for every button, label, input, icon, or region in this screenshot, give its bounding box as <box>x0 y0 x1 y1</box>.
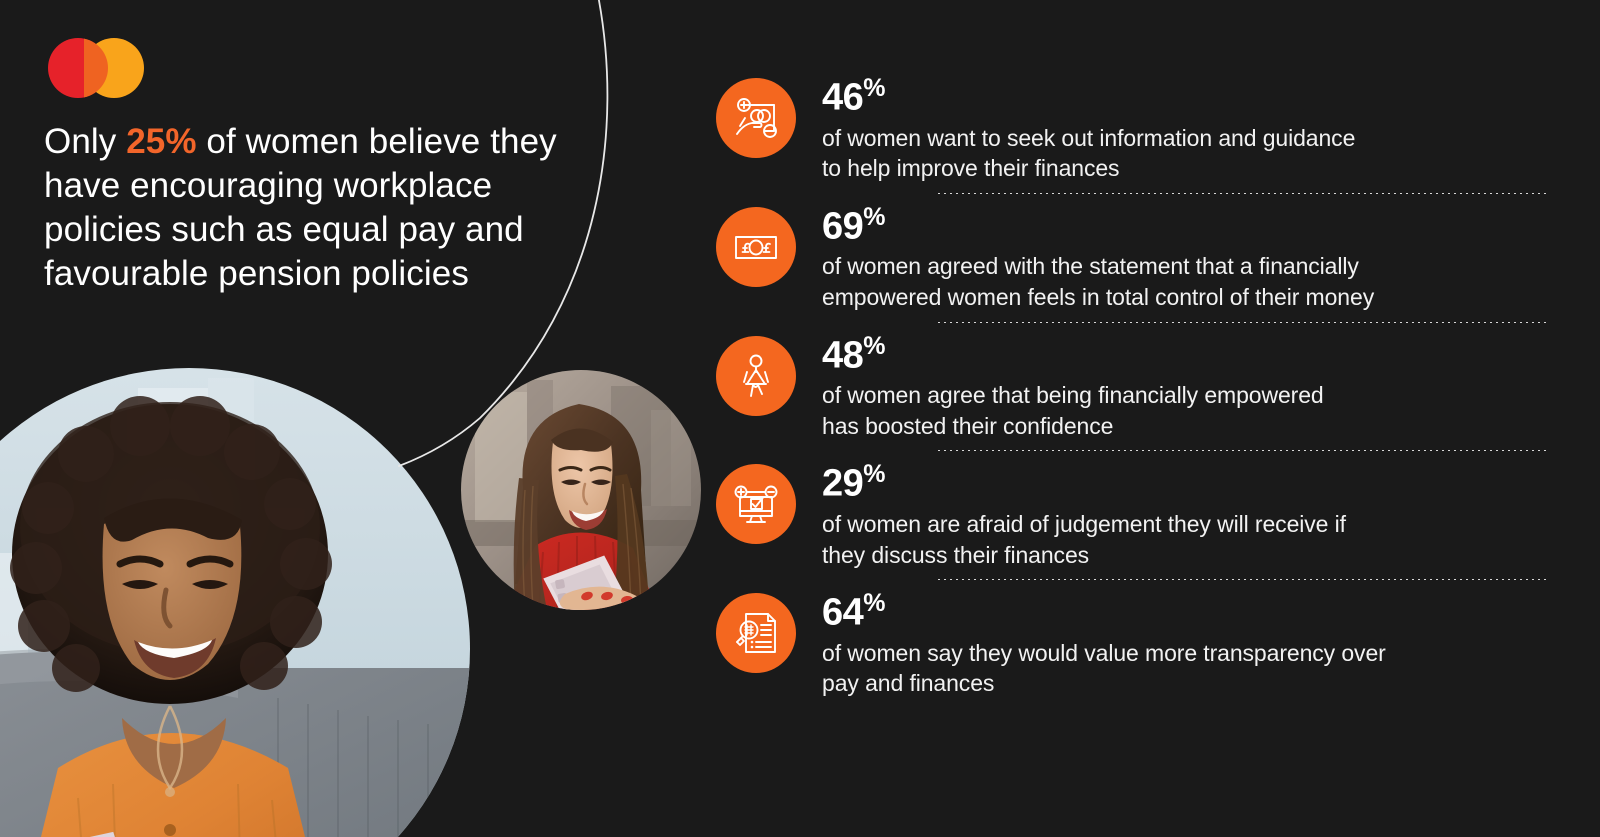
stat-row: 64% of women say they would value more t… <box>716 589 1546 699</box>
stat-row: 69% of women agreed with the statement t… <box>716 203 1546 332</box>
stat-row: 46% of women want to seek out informatio… <box>716 74 1546 203</box>
stat-percent-sign: % <box>863 332 885 360</box>
stat-divider <box>936 193 1546 194</box>
stat-value: 46% <box>822 76 1546 117</box>
stat-percent-sign: % <box>863 460 885 488</box>
stat-description: of women are afraid of judgement they wi… <box>822 509 1546 570</box>
mastercard-logo <box>48 38 144 98</box>
headline-accent-percent: 25% <box>126 122 196 161</box>
headline: Only 25% of women believe they have enco… <box>44 120 604 296</box>
banknote-pound-icon <box>716 207 796 287</box>
stat-number: 46 <box>822 77 863 119</box>
stat-body: 69% of women agreed with the statement t… <box>796 203 1546 332</box>
photo-woman-orange-top-art <box>0 368 470 837</box>
stat-description: of women agreed with the statement that … <box>822 251 1546 312</box>
stat-description: of women agree that being financially em… <box>822 380 1546 441</box>
stat-number: 64 <box>822 592 863 634</box>
stat-value: 64% <box>822 591 1546 632</box>
stat-number: 69 <box>822 205 863 247</box>
photo-woman-red-sweater-art <box>461 370 701 610</box>
headline-lead: Only <box>44 122 126 161</box>
stat-percent-sign: % <box>863 589 885 617</box>
stat-percent-sign: % <box>863 74 885 102</box>
stat-body: 29% of women are afraid of judgement the… <box>796 460 1546 589</box>
stat-value: 48% <box>822 334 1546 375</box>
document-magnifier-icon <box>716 593 796 673</box>
stat-divider <box>936 450 1546 451</box>
hand-coins-icon <box>716 78 796 158</box>
stat-description: of women want to seek out information an… <box>822 123 1546 184</box>
stat-row: 29% of women are afraid of judgement the… <box>716 460 1546 589</box>
stat-divider <box>936 579 1546 580</box>
stat-value: 69% <box>822 205 1546 246</box>
photo-woman-red-sweater <box>461 370 701 610</box>
stat-number: 48 <box>822 334 863 376</box>
stat-number: 29 <box>822 463 863 505</box>
stat-description: of women say they would value more trans… <box>822 638 1546 699</box>
stat-value: 29% <box>822 462 1546 503</box>
woman-figure-icon <box>716 336 796 416</box>
mastercard-overlap <box>84 38 108 98</box>
monitor-checkmark-icon <box>716 464 796 544</box>
stat-percent-sign: % <box>863 203 885 231</box>
stat-body: 46% of women want to seek out informatio… <box>796 74 1546 203</box>
stat-row: 48% of women agree that being financiall… <box>716 332 1546 461</box>
stat-divider <box>936 322 1546 323</box>
stat-body: 48% of women agree that being financiall… <box>796 332 1546 461</box>
infographic-canvas: Only 25% of women believe they have enco… <box>0 0 1600 837</box>
stat-body: 64% of women say they would value more t… <box>796 589 1546 699</box>
stats-list: 46% of women want to seek out informatio… <box>716 74 1546 699</box>
photo-woman-orange-top <box>0 368 470 837</box>
